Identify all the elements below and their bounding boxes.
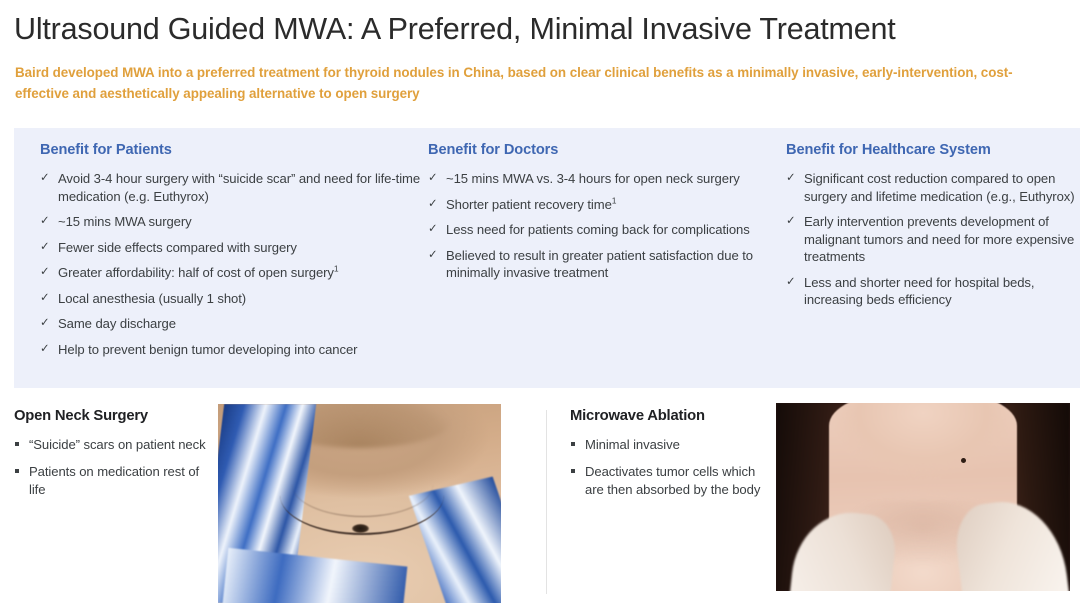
benefit-list-item: ✓Greater affordability: half of cost of … <box>40 264 424 282</box>
comparison-panel-open-neck-surgery: Open Neck Surgery “Suicide” scars on pat… <box>14 394 210 508</box>
comparison-divider <box>546 410 547 594</box>
benefit-list-item: ✓Believed to result in greater patient s… <box>428 247 772 282</box>
benefit-column-healthcare-system-heading: Benefit for Healthcare System <box>786 142 1076 158</box>
benefit-list-item-text: Local anesthesia (usually 1 shot) <box>58 291 246 306</box>
check-icon: ✓ <box>40 315 50 331</box>
benefit-list-item-text: Less need for patients coming back for c… <box>446 222 750 237</box>
square-bullet-icon <box>15 442 19 446</box>
benefit-list-item-text: Help to prevent benign tumor developing … <box>58 342 357 357</box>
page-subtitle: Baird developed MWA into a preferred tre… <box>15 63 1050 105</box>
comparison-bullet-item: Minimal invasive <box>570 436 770 453</box>
check-icon: ✓ <box>40 341 50 357</box>
microwave-ablation-photo <box>776 403 1070 591</box>
benefits-panel: Benefit for Patients ✓Avoid 3-4 hour sur… <box>14 128 1080 388</box>
check-icon: ✓ <box>428 221 438 237</box>
benefit-list-item: ✓Significant cost reduction compared to … <box>786 170 1076 205</box>
benefit-list-item: ✓Local anesthesia (usually 1 shot) <box>40 290 424 308</box>
benefit-column-patients-heading: Benefit for Patients <box>40 142 424 158</box>
benefit-list-item-text: Greater affordability: half of cost of o… <box>58 265 334 280</box>
benefit-list-item: ✓Fewer side effects compared with surger… <box>40 239 424 257</box>
check-icon: ✓ <box>786 213 796 229</box>
comparison-bullet-text: Patients on medication rest of life <box>29 464 199 496</box>
benefit-column-doctors: Benefit for Doctors ✓~15 mins MWA vs. 3-… <box>428 142 772 290</box>
page-title: Ultrasound Guided MWA: A Preferred, Mini… <box>14 11 1064 48</box>
benefit-list-item-text: Believed to result in greater patient sa… <box>446 248 753 281</box>
benefit-column-healthcare-system: Benefit for Healthcare System ✓Significa… <box>786 142 1076 317</box>
benefit-list-item-text: ~15 mins MWA surgery <box>58 214 192 229</box>
benefit-list-item: ✓Early intervention prevents development… <box>786 213 1076 266</box>
benefit-list-item-text: Significant cost reduction compared to o… <box>804 171 1075 204</box>
benefit-list-patients: ✓Avoid 3-4 hour surgery with “suicide sc… <box>40 170 424 358</box>
open-neck-surgery-bullets: “Suicide” scars on patient neckPatients … <box>14 436 210 498</box>
comparison-bullet-text: Minimal invasive <box>585 437 680 452</box>
benefit-column-patients: Benefit for Patients ✓Avoid 3-4 hour sur… <box>40 142 424 366</box>
mwa-mole-mark <box>961 458 966 463</box>
open-neck-surgery-photo <box>218 404 501 603</box>
check-icon: ✓ <box>40 264 50 280</box>
benefit-list-item: ✓Less and shorter need for hospital beds… <box>786 274 1076 309</box>
footnote-marker: 1 <box>612 195 617 205</box>
benefit-list-item-text: Early intervention prevents development … <box>804 214 1074 264</box>
benefit-list-item-text: ~15 mins MWA vs. 3-4 hours for open neck… <box>446 171 740 186</box>
check-icon: ✓ <box>428 196 438 212</box>
benefit-list-item-text: Avoid 3-4 hour surgery with “suicide sca… <box>58 171 420 204</box>
benefit-column-doctors-heading: Benefit for Doctors <box>428 142 772 158</box>
microwave-ablation-heading: Microwave Ablation <box>570 408 770 424</box>
benefit-list-item-text: Less and shorter need for hospital beds,… <box>804 275 1034 308</box>
benefit-list-item: ✓Help to prevent benign tumor developing… <box>40 341 424 359</box>
benefit-list-item-text: Shorter patient recovery time <box>446 197 612 212</box>
check-icon: ✓ <box>40 170 50 186</box>
microwave-ablation-bullets: Minimal invasiveDeactivates tumor cells … <box>570 436 770 498</box>
square-bullet-icon <box>571 442 575 446</box>
check-icon: ✓ <box>786 274 796 290</box>
open-neck-surgery-heading: Open Neck Surgery <box>14 408 210 424</box>
comparison-bullet-text: Deactivates tumor cells which are then a… <box>585 464 760 496</box>
check-icon: ✓ <box>428 247 438 263</box>
comparison-bullet-text: “Suicide” scars on patient neck <box>29 437 206 452</box>
benefit-list-item-text: Fewer side effects compared with surgery <box>58 240 297 255</box>
check-icon: ✓ <box>40 290 50 306</box>
benefit-list-item: ✓Same day discharge <box>40 315 424 333</box>
benefit-list-healthcare-system: ✓Significant cost reduction compared to … <box>786 170 1076 309</box>
benefit-list-item: ✓Avoid 3-4 hour surgery with “suicide sc… <box>40 170 424 205</box>
check-icon: ✓ <box>40 213 50 229</box>
benefit-list-item-text: Same day discharge <box>58 316 176 331</box>
comparison-bullet-item: Patients on medication rest of life <box>14 463 210 498</box>
benefit-list-item: ✓~15 mins MWA vs. 3-4 hours for open nec… <box>428 170 772 188</box>
comparison-bullet-item: “Suicide” scars on patient neck <box>14 436 210 453</box>
square-bullet-icon <box>571 469 575 473</box>
benefit-list-doctors: ✓~15 mins MWA vs. 3-4 hours for open nec… <box>428 170 772 282</box>
comparison-panel-microwave-ablation: Microwave Ablation Minimal invasiveDeact… <box>570 394 770 508</box>
check-icon: ✓ <box>786 170 796 186</box>
comparison-bullet-item: Deactivates tumor cells which are then a… <box>570 463 770 498</box>
check-icon: ✓ <box>40 239 50 255</box>
benefit-list-item: ✓Less need for patients coming back for … <box>428 221 772 239</box>
square-bullet-icon <box>15 469 19 473</box>
check-icon: ✓ <box>428 170 438 186</box>
slide-root: Ultrasound Guided MWA: A Preferred, Mini… <box>0 0 1080 603</box>
benefit-list-item: ✓~15 mins MWA surgery <box>40 213 424 231</box>
footnote-marker: 1 <box>334 264 339 274</box>
benefit-list-item: ✓Shorter patient recovery time1 <box>428 196 772 214</box>
